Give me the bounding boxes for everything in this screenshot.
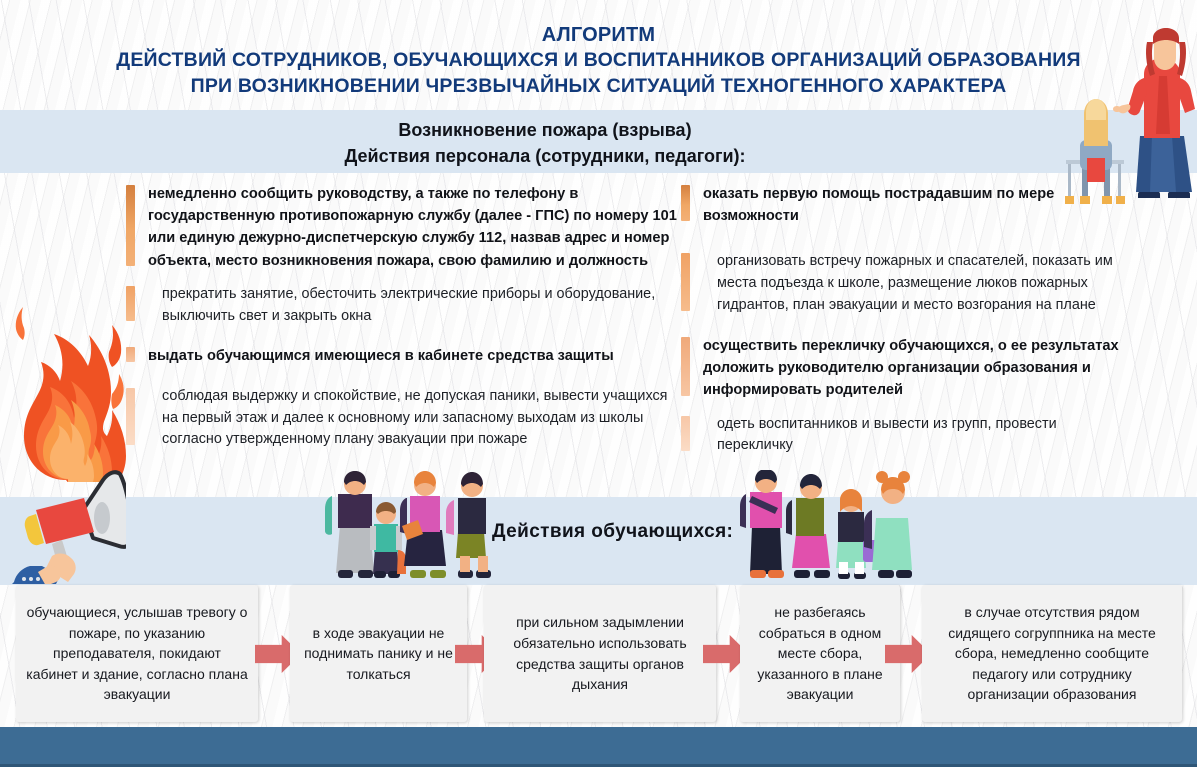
footer-bar (0, 727, 1197, 767)
banner-line-2: Действия персонала (сотрудники, педагоги… (344, 143, 745, 169)
flow-step-2-text: в ходе эвакуации не поднимать панику и н… (300, 623, 457, 685)
left-block-4: соблюдая выдержку и спокойствие, не допу… (126, 386, 686, 452)
flow-step-4[interactable]: не разбегаясь собраться в одном месте сб… (740, 585, 900, 722)
right-item-4-text: одеть воспитанников и вывести из групп, … (703, 414, 1121, 458)
right-item-3-text: осуществить перекличку обучающихся, о ее… (703, 335, 1121, 402)
accent-bar (681, 337, 690, 396)
students-steps-flow: обучающиеся, услышав тревогу о пожаре, п… (0, 585, 1197, 725)
spacer (126, 329, 686, 345)
spacer (681, 319, 1121, 335)
infographic-root: АЛГОРИТМ ДЕЙСТВИЙ СОТРУДНИКОВ, ОБУЧАЮЩИХ… (0, 0, 1197, 767)
student-figure (400, 471, 446, 578)
student-figure (786, 474, 830, 578)
student-figure (446, 472, 491, 578)
spacer (126, 370, 686, 386)
accent-bar (681, 253, 690, 311)
teacher-and-student-illustration (1060, 28, 1197, 210)
student-group-left-illustration (318, 470, 494, 592)
spacer (681, 229, 1121, 251)
accent-bar (126, 286, 135, 322)
right-item-1-text: оказать первую помощь пострадавшим по ме… (703, 183, 1121, 227)
left-item-3-text: выдать обучающимся имеющиеся в кабинете … (148, 345, 686, 367)
right-block-1: оказать первую помощь пострадавшим по ме… (681, 183, 1121, 227)
fire-flame-icon (8, 232, 126, 482)
right-block-2: организовать встречу пожарных и спасател… (681, 251, 1121, 317)
left-item-2-text: прекратить занятие, обесточить электриче… (148, 284, 686, 328)
accent-bar (681, 416, 690, 452)
students-section-title: Действия обучающихся: (492, 521, 733, 543)
flow-step-3-text: при сильном задымлении обязательно испол… (494, 612, 706, 694)
flow-step-5[interactable]: в случае отсутствия рядом сидящего согру… (922, 585, 1182, 722)
flow-step-4-text: не разбегаясь собраться в одном месте сб… (750, 602, 890, 705)
spacer (126, 274, 686, 284)
banner-line-1: Возникновение пожара (взрыва) (398, 117, 691, 143)
student-at-desk-icon (1065, 99, 1125, 204)
flow-step-1-text: обучающиеся, услышав тревогу о пожаре, п… (26, 602, 248, 705)
right-block-3: осуществить перекличку обучающихся, о ее… (681, 335, 1121, 402)
flow-step-2[interactable]: в ходе эвакуации не поднимать панику и н… (290, 585, 467, 722)
accent-bar (126, 185, 135, 266)
student-figure (740, 470, 784, 578)
left-item-4-text: соблюдая выдержку и спокойствие, не допу… (148, 386, 686, 452)
staff-actions-right-column: оказать первую помощь пострадавшим по ме… (681, 183, 1121, 459)
flow-step-3[interactable]: при сильном задымлении обязательно испол… (484, 585, 716, 722)
student-figure (325, 471, 374, 578)
left-block-3: выдать обучающимся имеющиеся в кабинете … (126, 345, 686, 367)
section-banner: Возникновение пожара (взрыва) Действия п… (0, 114, 1090, 172)
flow-step-1[interactable]: обучающиеся, услышав тревогу о пожаре, п… (16, 585, 258, 722)
accent-bar (681, 185, 690, 221)
megaphone-icon (0, 466, 126, 584)
left-block-1: немедленно сообщить руководству, а также… (126, 183, 686, 272)
teacher-icon (1113, 28, 1195, 198)
left-item-1-text: немедленно сообщить руководству, а также… (148, 183, 686, 272)
accent-bar (126, 347, 135, 361)
right-block-4: одеть воспитанников и вывести из групп, … (681, 414, 1121, 458)
student-group-right-illustration (738, 470, 914, 592)
left-block-2: прекратить занятие, обесточить электриче… (126, 284, 686, 328)
flow-step-5-text: в случае отсутствия рядом сидящего согру… (932, 602, 1172, 705)
accent-bar (126, 388, 135, 446)
spacer (681, 404, 1121, 414)
staff-actions-left-column: немедленно сообщить руководству, а также… (126, 183, 686, 453)
right-item-2-text: организовать встречу пожарных и спасател… (703, 251, 1121, 317)
